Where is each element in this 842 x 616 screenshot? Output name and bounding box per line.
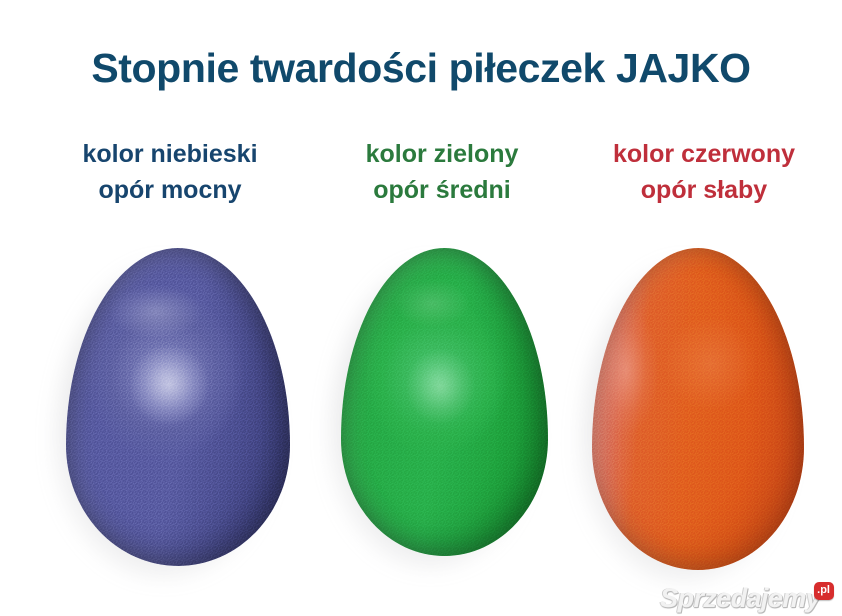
watermark: Sprzedajemy .pl	[660, 585, 834, 612]
column-labels-row: kolor niebieski opór mocny kolor zielony…	[0, 137, 842, 208]
column-resistance-label-red: opór słaby	[570, 173, 838, 209]
column-label-green: kolor zielony opór średni	[322, 137, 562, 208]
page-title: Stopnie twardości piłeczek JAJKO	[0, 46, 842, 91]
column-resistance-label-green: opór średni	[322, 173, 562, 209]
green-egg-body	[341, 248, 548, 556]
blue-egg-body	[66, 248, 290, 566]
column-color-label-green: kolor zielony	[322, 137, 562, 173]
poster-canvas: Stopnie twardości piłeczek JAJKO kolor n…	[0, 0, 842, 616]
watermark-text: Sprzedajemy	[660, 585, 820, 612]
column-color-label-blue: kolor niebieski	[20, 137, 320, 173]
red-egg-body	[592, 248, 804, 570]
column-color-label-red: kolor czerwony	[570, 137, 838, 173]
column-label-blue: kolor niebieski opór mocny	[20, 137, 320, 208]
watermark-pl-badge: .pl	[814, 582, 834, 600]
column-label-red: kolor czerwony opór słaby	[570, 137, 838, 208]
red-egg-image	[592, 248, 804, 570]
product-images-row	[0, 248, 842, 578]
green-egg-image	[341, 248, 548, 556]
blue-egg-image	[66, 248, 290, 566]
column-resistance-label-blue: opór mocny	[20, 173, 320, 209]
